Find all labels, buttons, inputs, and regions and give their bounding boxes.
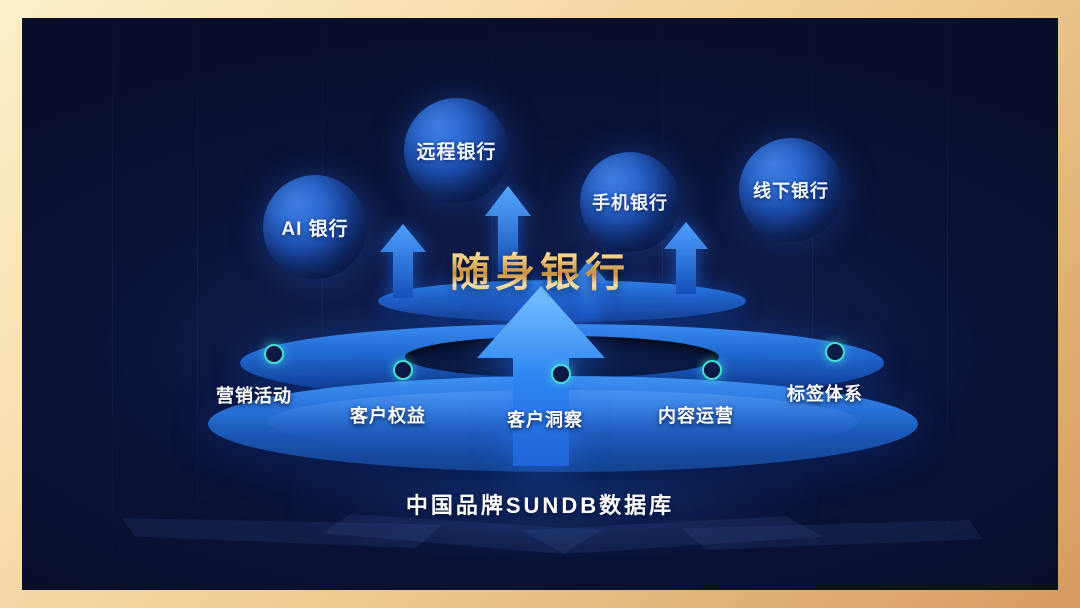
node-dot-icon — [264, 344, 284, 364]
central-arrow-icon — [477, 286, 605, 466]
slide-canvas: AI 银行 远程银行 手机银行 线下银行 — [22, 18, 1058, 590]
node-label: 客户权益 — [350, 402, 426, 428]
slide-frame: AI 银行 远程银行 手机银行 线下银行 — [0, 0, 1080, 608]
node-dot-icon — [551, 364, 571, 384]
node-dot-icon — [393, 360, 413, 380]
node-label: 内容运营 — [658, 402, 734, 428]
slide-caption: 中国品牌SUNDB数据库 — [22, 488, 1058, 520]
node-dot-icon — [825, 342, 845, 362]
node-label: 营销活动 — [216, 382, 292, 408]
node-label: 客户洞察 — [507, 406, 583, 432]
node-label: 标签体系 — [787, 380, 863, 406]
page-title: 随身银行 — [22, 240, 1058, 298]
node-dot-icon — [702, 360, 722, 380]
